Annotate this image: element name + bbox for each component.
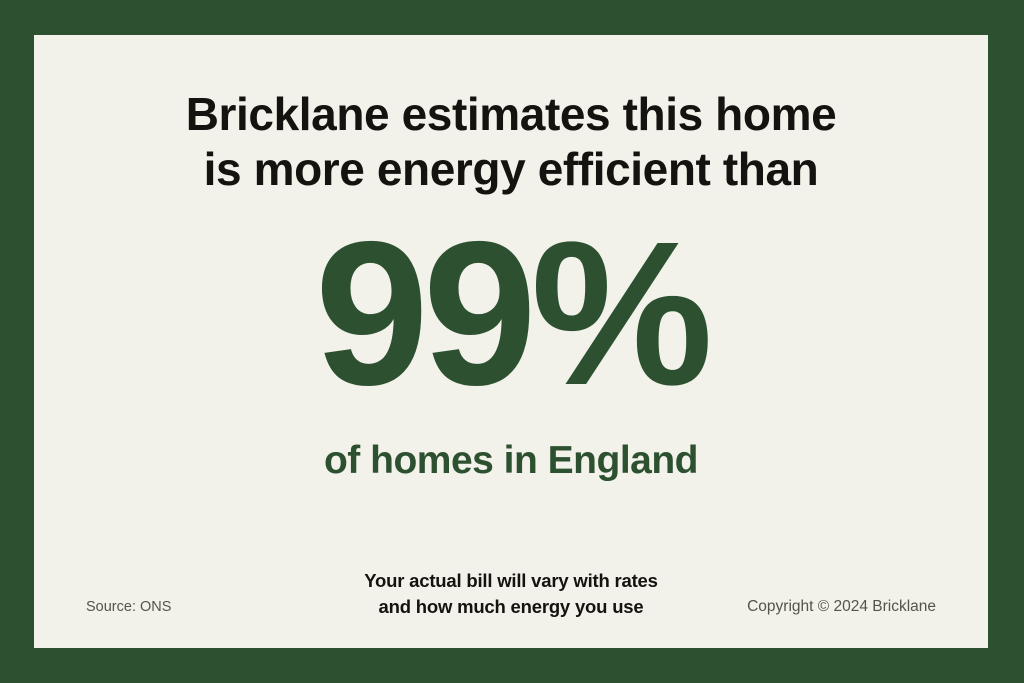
copyright-note: Copyright © 2024 Bricklane — [736, 598, 936, 620]
stat-caption: of homes in England — [34, 438, 988, 484]
infographic-card: Bricklane estimates this home is more en… — [0, 0, 1024, 683]
stat-block: 99% of homes in England — [34, 221, 988, 484]
stat-percentage-value: 99% — [34, 221, 988, 406]
disclaimer-line-1: Your actual bill will vary with rates — [286, 568, 736, 594]
inner-panel: Bricklane estimates this home is more en… — [34, 35, 988, 648]
disclaimer-line-2: and how much energy you use — [286, 594, 736, 620]
headline-line-2: is more energy efficient than — [34, 142, 988, 197]
headline: Bricklane estimates this home is more en… — [34, 87, 988, 197]
headline-line-1: Bricklane estimates this home — [34, 87, 988, 142]
source-note: Source: ONS — [86, 598, 286, 620]
footer-row: Source: ONS Your actual bill will vary w… — [34, 560, 988, 620]
disclaimer-note: Your actual bill will vary with rates an… — [286, 568, 736, 620]
